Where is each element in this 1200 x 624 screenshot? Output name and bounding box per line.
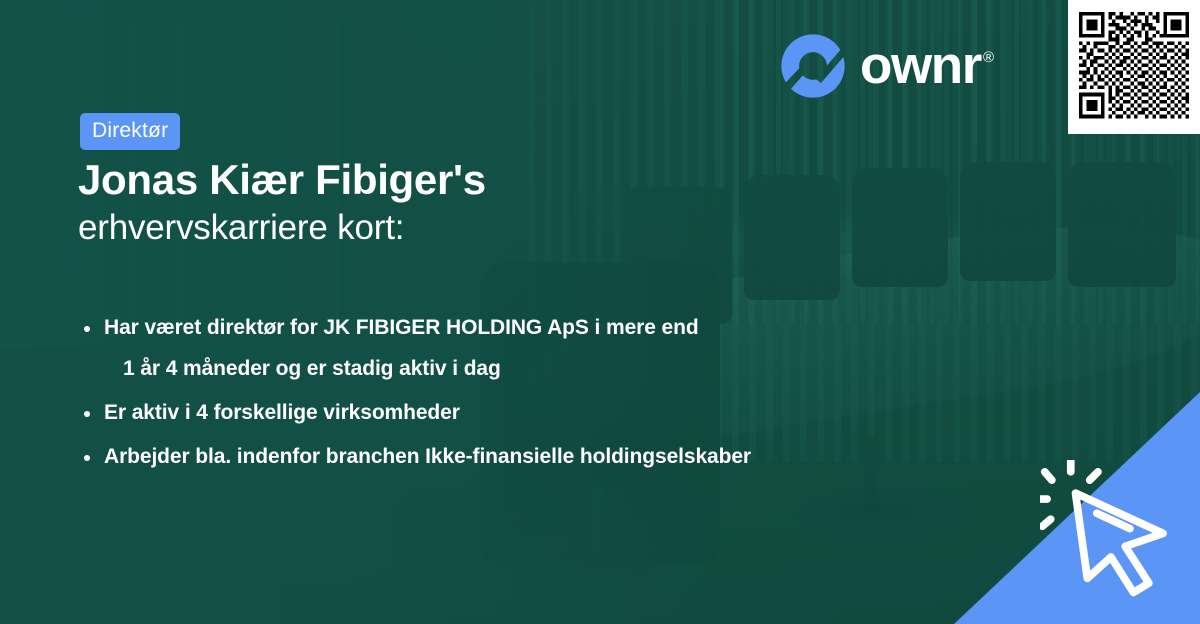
list-item: Arbejder bla. indenfor branchen Ikke-fin… [80,437,960,478]
ownr-circle-swirl-icon [780,33,846,99]
career-summary-card: Direktør Jonas Kiær Fibiger's erhvervska… [0,0,1200,624]
page-title-name: Jonas Kiær Fibiger's [78,156,978,203]
ownr-wordmark-text: ownr [860,42,981,91]
card-content: Direktør Jonas Kiær Fibiger's erhvervska… [0,0,1200,624]
list-item: Har været direktør for JK FIBIGER HOLDIN… [80,308,960,390]
corner-accent [954,392,1200,624]
ownr-logo[interactable]: ownr ® [780,33,994,99]
page-title-subtitle: erhvervskarriere kort: [78,207,978,249]
role-badge: Direktør [80,113,180,150]
list-item-text: Arbejder bla. indenfor branchen Ikke-fin… [104,445,751,468]
bullet-dot [84,326,90,332]
qr-code-panel[interactable] [1068,0,1200,134]
list-item-continuation: 1 år 4 måneder og er stadig aktiv i dag [104,349,960,390]
ownr-wordmark: ownr ® [860,42,994,91]
bullet-dot [84,411,90,417]
click-cursor-icon [1040,460,1182,602]
career-fact-list: Har været direktør for JK FIBIGER HOLDIN… [80,308,960,481]
list-item-text: Er aktiv i 4 forskellige virksomheder [104,401,460,424]
list-item-text: Har været direktør for JK FIBIGER HOLDIN… [104,316,699,339]
qr-code-icon [1079,12,1189,122]
list-item: Er aktiv i 4 forskellige virksomheder [80,393,960,434]
page-title: Jonas Kiær Fibiger's erhvervskarriere ko… [78,156,978,249]
registered-trademark-icon: ® [983,50,994,65]
corner-triangle [954,392,1200,624]
bullet-dot [84,455,90,461]
